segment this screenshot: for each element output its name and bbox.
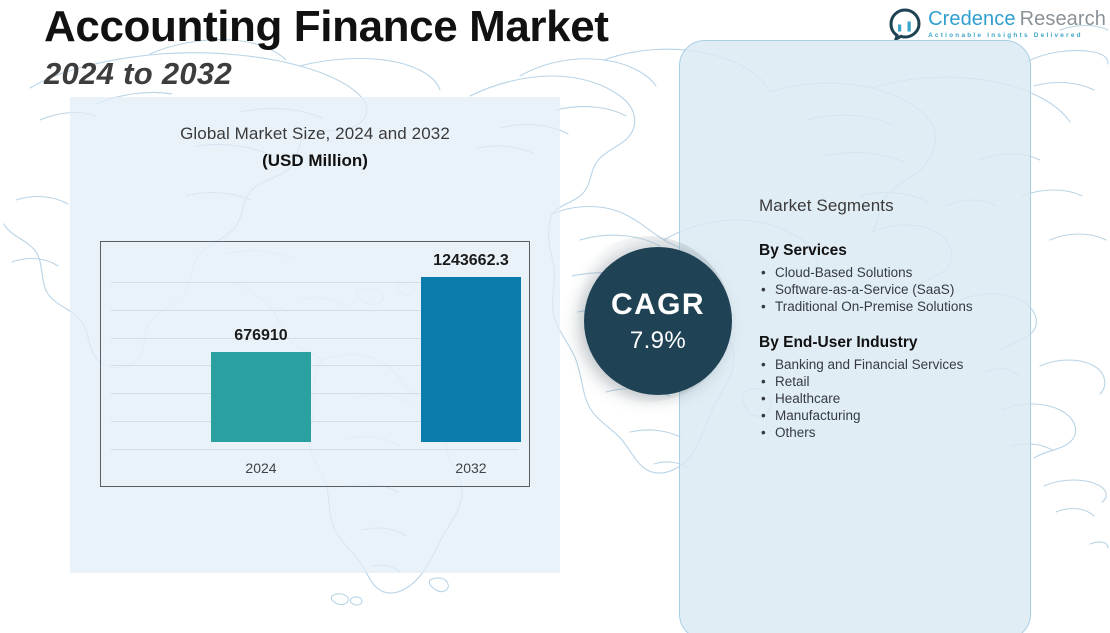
header: Accounting Finance Market 2024 to 2032 (44, 2, 609, 92)
segment-group: By ServicesCloud-Based SolutionsSoftware… (759, 242, 1021, 316)
logo-wordmark: CredenceResearch (928, 9, 1106, 29)
segment-list: Banking and Financial ServicesRetailHeal… (759, 356, 1021, 442)
chart-plot-area: 6769101243662.3 (101, 258, 529, 442)
list-item[interactable]: Manufacturing (759, 407, 1021, 424)
list-item[interactable]: Others (759, 424, 1021, 441)
brand-logo[interactable]: CredenceResearch Actionable Insights Del… (889, 8, 1106, 40)
list-item[interactable]: Healthcare (759, 390, 1021, 407)
gridline (111, 449, 519, 450)
category-label-2024: 2024 (201, 460, 321, 476)
bar-slot: 676910 (211, 258, 311, 442)
bar-2024[interactable] (211, 352, 311, 442)
cagr-value: 7.9% (630, 329, 686, 353)
list-item[interactable]: Retail (759, 373, 1021, 390)
category-label-2032: 2032 (411, 460, 531, 476)
segments-title: Market Segments (759, 196, 1021, 216)
bar-value-label: 1243662.3 (433, 252, 509, 270)
segment-list: Cloud-Based SolutionsSoftware-as-a-Servi… (759, 264, 1021, 316)
logo-tagline: Actionable Insights Delivered (928, 33, 1106, 39)
cagr-label: CAGR (611, 290, 705, 320)
market-segments: Market Segments By ServicesCloud-Based S… (759, 196, 1021, 460)
logo-credence: Credence (928, 8, 1016, 30)
segment-groups: By ServicesCloud-Based SolutionsSoftware… (759, 242, 1021, 442)
bar-slot: 1243662.3 (421, 258, 521, 442)
chart-units: (USD Million) (70, 151, 560, 171)
cagr-badge: CAGR 7.9% (584, 247, 732, 395)
bar-chart-bubble-icon (889, 8, 921, 40)
bar-2032[interactable] (421, 277, 521, 442)
list-item[interactable]: Traditional On-Premise Solutions (759, 298, 1021, 315)
segment-group-title: By End-User Industry (759, 334, 1021, 352)
bar-chart: 6769101243662.3 20242032 (100, 241, 530, 487)
list-item[interactable]: Banking and Financial Services (759, 356, 1021, 373)
list-item[interactable]: Cloud-Based Solutions (759, 264, 1021, 281)
segment-group-title: By Services (759, 242, 1021, 260)
segment-group: By End-User IndustryBanking and Financia… (759, 334, 1021, 442)
chart-title-block: Global Market Size, 2024 and 2032 (USD M… (70, 124, 560, 171)
list-item[interactable]: Software-as-a-Service (SaaS) (759, 281, 1021, 298)
logo-text: CredenceResearch Actionable Insights Del… (928, 9, 1106, 39)
page-subtitle: 2024 to 2032 (44, 55, 609, 92)
page-title: Accounting Finance Market (44, 2, 609, 53)
bar-value-label: 676910 (234, 327, 287, 345)
logo-research: Research (1020, 8, 1106, 30)
infographic-root: Accounting Finance Market 2024 to 2032 C… (0, 0, 1110, 633)
chart-title: Global Market Size, 2024 and 2032 (70, 124, 560, 144)
